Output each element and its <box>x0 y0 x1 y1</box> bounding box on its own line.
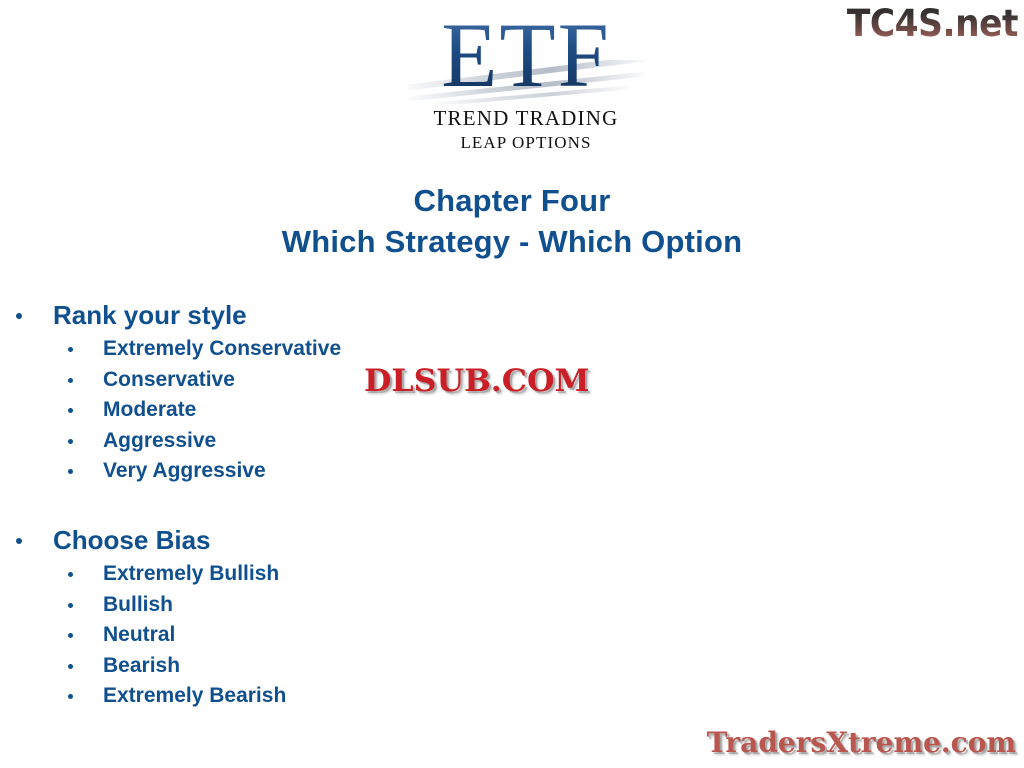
list-item-label: Extremely Conservative <box>103 337 341 360</box>
list-item-label: Bullish <box>103 593 173 616</box>
bullet-heading: Rank your style <box>0 296 700 334</box>
list-item-label: Extremely Bearish <box>103 684 286 707</box>
list-item-label: Conservative <box>103 368 235 391</box>
list-item: Very Aggressive <box>0 456 700 487</box>
logo-tagline-secondary: LEAP OPTIONS <box>408 133 644 153</box>
page-title: Chapter Four Which Strategy - Which Opti… <box>0 180 1024 262</box>
title-line-chapter: Chapter Four <box>0 180 1024 221</box>
bullet-dot-icon <box>68 694 73 699</box>
bullet-group-choose-bias: Choose Bias Extremely Bullish Bullish Ne… <box>0 521 700 712</box>
list-item: Extremely Bullish <box>0 559 700 590</box>
content-list: Rank your style Extremely Conservative C… <box>0 296 700 712</box>
bullet-dot-icon <box>68 603 73 608</box>
list-item: Neutral <box>0 620 700 651</box>
logo-wordmark: ETF <box>408 4 644 104</box>
list-item: Aggressive <box>0 426 700 457</box>
list-item-label: Aggressive <box>103 429 216 452</box>
bullet-dot-icon <box>68 439 73 444</box>
bullet-heading: Choose Bias <box>0 521 700 559</box>
list-item-label: Neutral <box>103 623 175 646</box>
list-item: Extremely Bearish <box>0 681 700 712</box>
list-item: Moderate <box>0 395 700 426</box>
list-item: Conservative <box>0 365 700 396</box>
bullet-dot-icon <box>68 347 73 352</box>
list-item-label: Extremely Bullish <box>103 562 279 585</box>
bullet-dot-icon <box>68 664 73 669</box>
bullet-dot-icon <box>16 313 22 319</box>
list-item-label: Very Aggressive <box>103 459 266 482</box>
bullet-dot-icon <box>16 538 22 544</box>
watermark-dlsub: DLSUB.COM <box>364 364 590 398</box>
title-line-subject: Which Strategy - Which Option <box>0 221 1024 262</box>
bullet-dot-icon <box>68 572 73 577</box>
etf-logo: ETF TREND TRADING LEAP OPTIONS <box>408 4 644 156</box>
logo-tagline-primary: TREND TRADING <box>408 106 644 130</box>
bullet-dot-icon <box>68 469 73 474</box>
bullet-dot-icon <box>68 378 73 383</box>
list-item-label: Moderate <box>103 398 196 421</box>
bullet-heading-label: Choose Bias <box>53 525 211 555</box>
list-item: Bullish <box>0 590 700 621</box>
slide: ETF TREND TRADING LEAP OPTIONS TC4S.net … <box>0 0 1024 768</box>
bullet-group-rank-your-style: Rank your style Extremely Conservative C… <box>0 296 700 487</box>
list-item: Extremely Conservative <box>0 334 700 365</box>
list-item-label: Bearish <box>103 654 180 677</box>
list-item: Bearish <box>0 651 700 682</box>
brand-tc4s: TC4S.net <box>847 2 1018 46</box>
bullet-dot-icon <box>68 633 73 638</box>
bullet-dot-icon <box>68 408 73 413</box>
bullet-heading-label: Rank your style <box>53 300 247 330</box>
brand-tradersxtreme: TradersXtreme.com <box>707 726 1016 760</box>
